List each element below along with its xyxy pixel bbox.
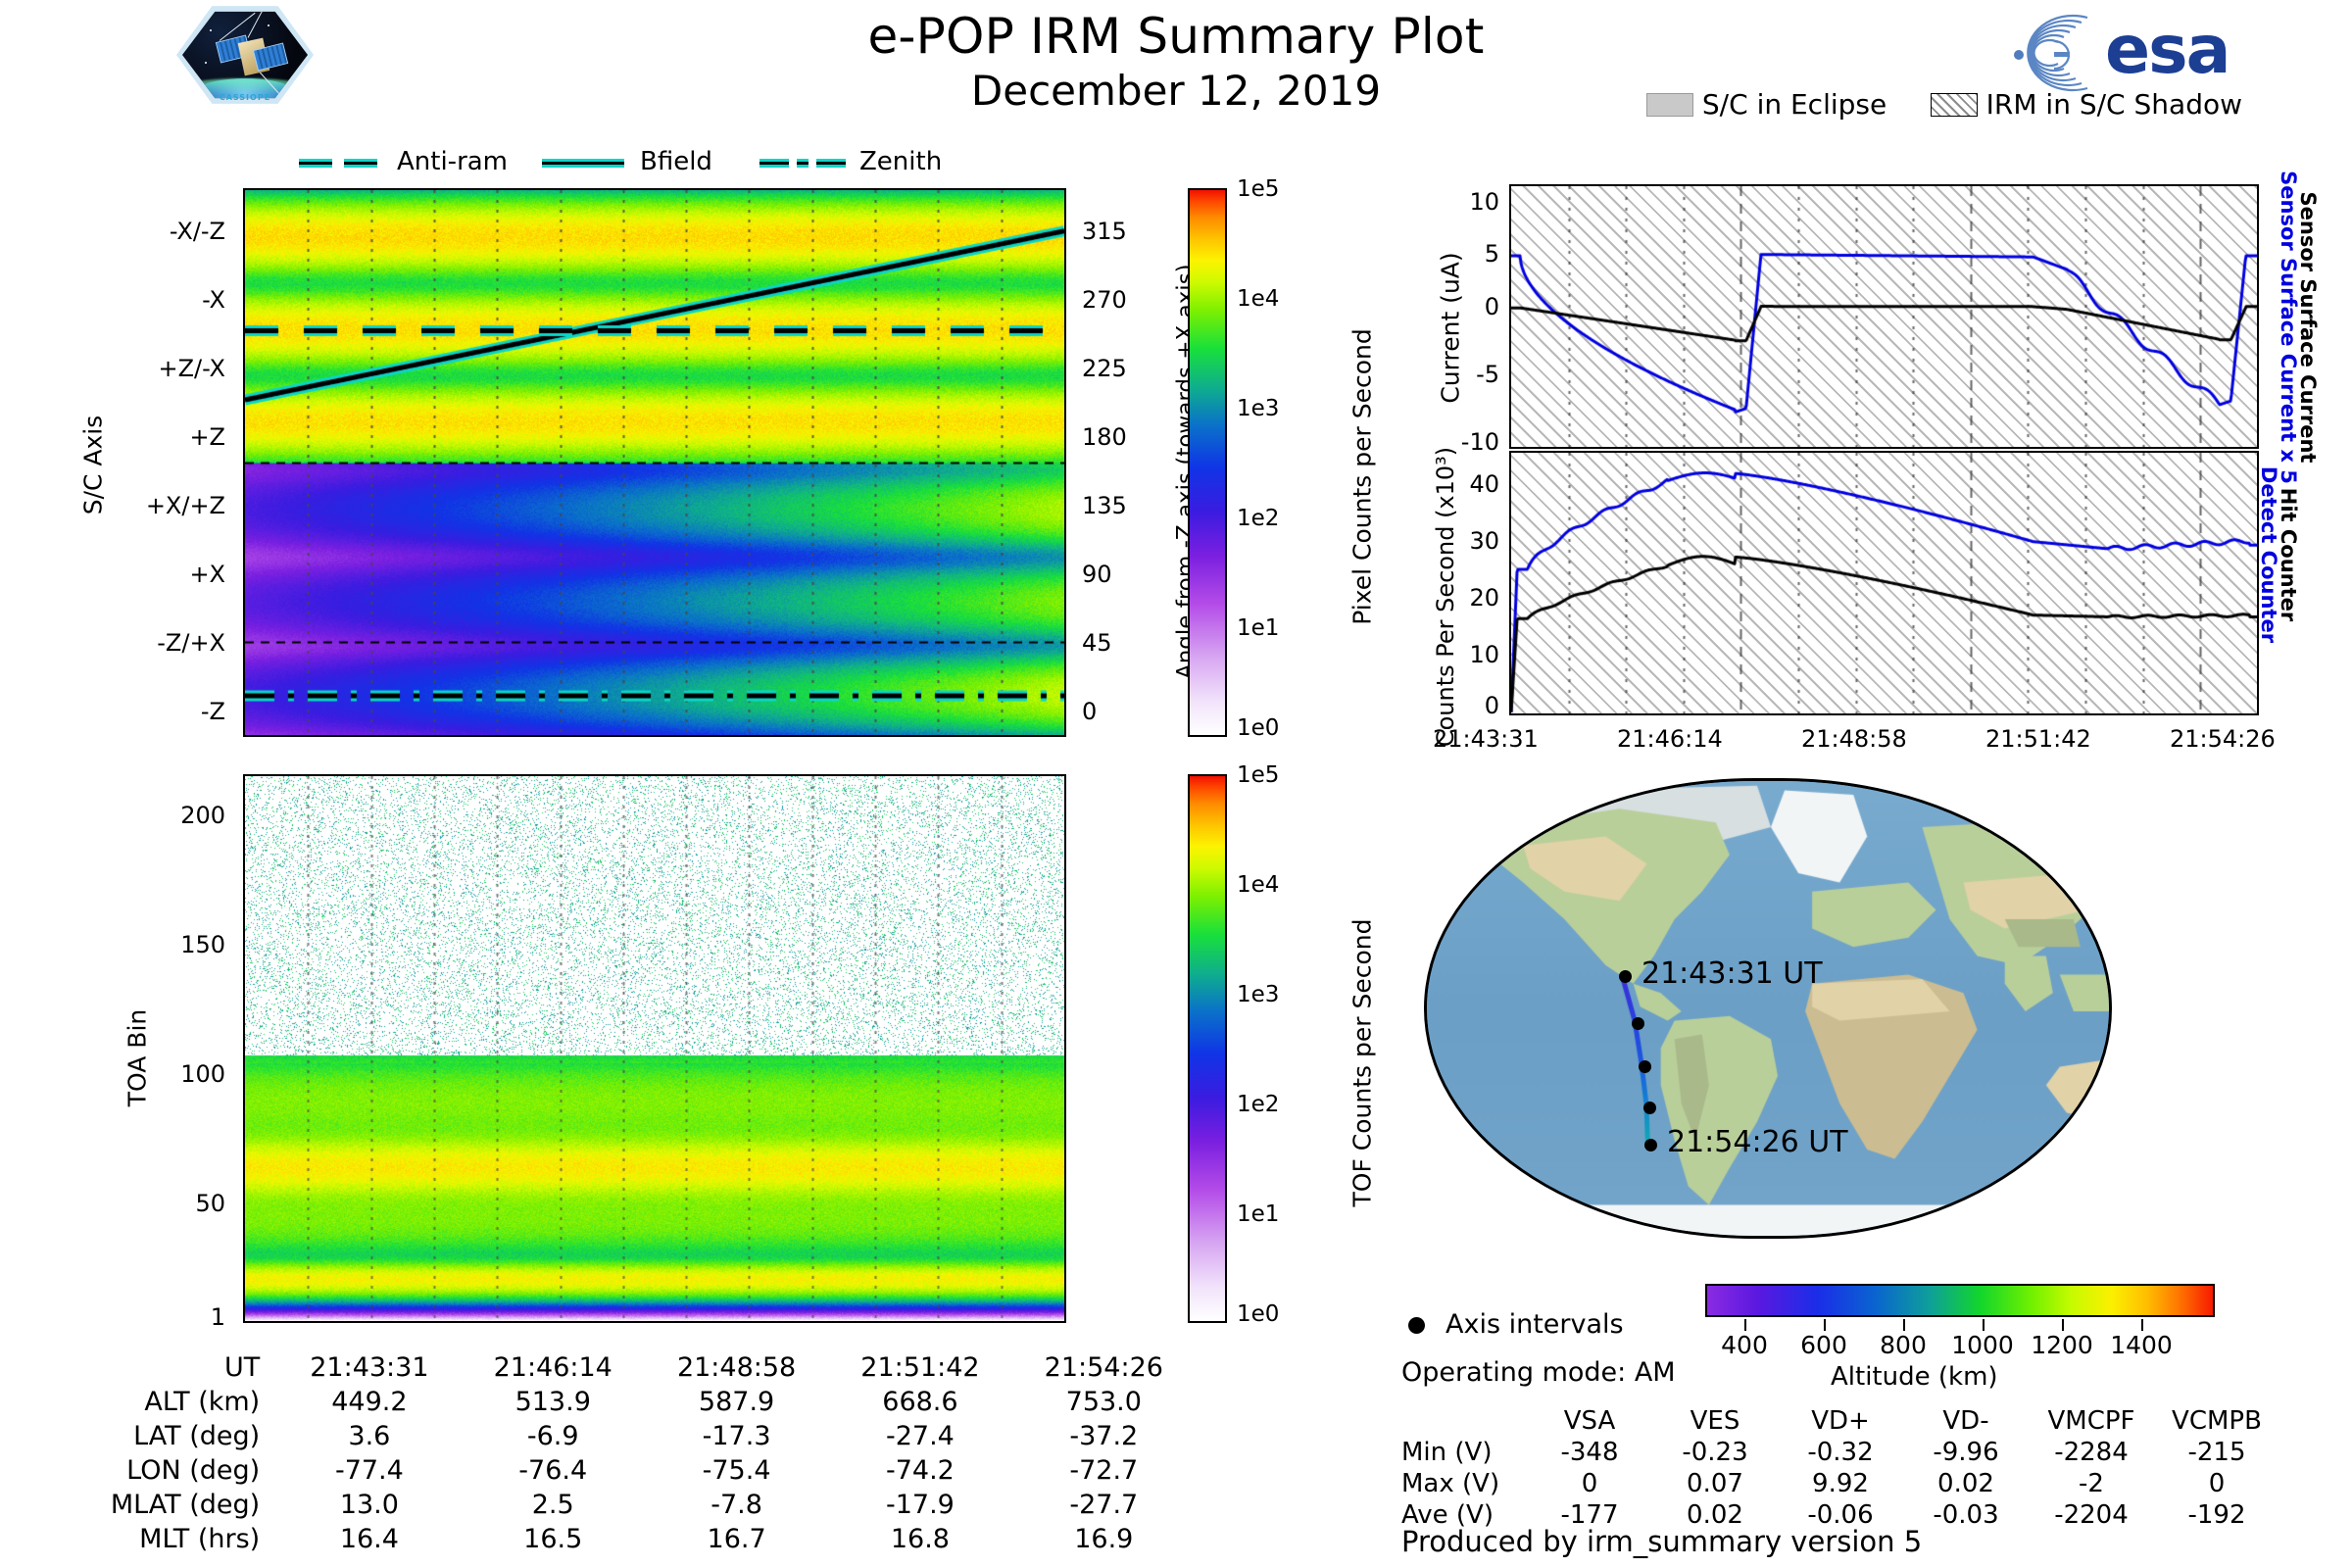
ephemeris-cell: 2.5 <box>462 1488 645 1522</box>
cbA-tick-1: 1e4 <box>1237 286 1279 312</box>
angle-overlay-legend: Anti-ram Bfield Zenith <box>250 147 936 182</box>
current-ytick-neg5: -5 <box>1426 361 1499 388</box>
cbB-tick-5: 1e0 <box>1237 1301 1279 1327</box>
pixel-counts-colorbar <box>1188 188 1227 737</box>
voltage-column-header: VES <box>1652 1405 1778 1437</box>
ephemeris-cell: 3.6 <box>277 1419 461 1453</box>
ephemeris-cell: 16.7 <box>645 1522 828 1556</box>
cbB-tick-1: 1e4 <box>1237 872 1279 898</box>
cbA-tick-4: 1e1 <box>1237 615 1279 641</box>
ephemeris-cell: -17.9 <box>828 1488 1011 1522</box>
ephemeris-cell: 13.0 <box>277 1488 461 1522</box>
ephemeris-row-label: LON (deg) <box>20 1453 277 1488</box>
sc-axis-right-tick-7: 0 <box>1082 698 1097 725</box>
toa-ytick-150: 150 <box>147 931 225 958</box>
voltage-column-header: VSA <box>1527 1405 1652 1437</box>
altitude-colorbar <box>1705 1284 2215 1317</box>
current-traces <box>1511 186 2257 447</box>
axis-interval-dot-icon <box>1408 1317 1425 1334</box>
ephemeris-cell: 21:48:58 <box>645 1350 828 1385</box>
esa-logo: esa <box>1989 8 2332 98</box>
sc-axis-right-tick-6: 45 <box>1082 629 1112 657</box>
sc-axis-ytick-0: -X/-Z <box>157 218 225 245</box>
ephemeris-cell: -76.4 <box>462 1453 645 1488</box>
ephemeris-row-label: LAT (deg) <box>20 1419 277 1453</box>
alt-tick-4: 1200 <box>2031 1331 2093 1359</box>
legend-label-shadow: IRM in S/C Shadow <box>1986 88 2242 121</box>
ephemeris-cell: -77.4 <box>277 1453 461 1488</box>
cbA-tick-5: 1e0 <box>1237 715 1279 741</box>
counts-xtick-3: 21:51:42 <box>1985 725 2091 753</box>
toa-ytick-200: 200 <box>147 802 225 829</box>
voltage-cell: -2284 <box>2029 1437 2154 1468</box>
ephemeris-row: MLAT (deg)13.02.5-7.8-17.9-27.7 <box>20 1488 1196 1522</box>
legend-label-eclipse: S/C in Eclipse <box>1702 88 1886 121</box>
toa-bin-ylabel: TOA Bin <box>123 960 152 1156</box>
voltage-column-header: VD+ <box>1778 1405 1903 1437</box>
track-dot-start <box>1619 970 1632 983</box>
toa-ytick-50: 50 <box>147 1190 225 1217</box>
ephemeris-cell: 16.4 <box>277 1522 461 1556</box>
voltage-corner <box>1401 1405 1527 1437</box>
counts-ytick-0: 0 <box>1426 692 1499 719</box>
cbB-tick-3: 1e2 <box>1237 1092 1279 1117</box>
cbA-tick-0: 1e5 <box>1237 176 1279 202</box>
voltage-cell: 0.02 <box>1903 1468 2029 1499</box>
voltage-cell: 9.92 <box>1778 1468 1903 1499</box>
current-panel[interactable] <box>1509 184 2259 449</box>
voltage-cell: -215 <box>2154 1437 2279 1468</box>
tof-counts-colorbar-label: TOF Counts per Second <box>1348 857 1377 1269</box>
voltage-cell: -0.23 <box>1652 1437 1778 1468</box>
voltage-cell: 0 <box>2154 1468 2279 1499</box>
ephemeris-cell: -6.9 <box>462 1419 645 1453</box>
counts-traces <box>1511 453 2257 713</box>
track-dot-end <box>1644 1139 1657 1151</box>
ephemeris-cell: -7.8 <box>645 1488 828 1522</box>
ephemeris-row: MLT (hrs)16.416.516.716.816.9 <box>20 1522 1196 1556</box>
sc-axis-right-tick-2: 225 <box>1082 355 1127 382</box>
ephemeris-row-label: MLT (hrs) <box>20 1522 277 1556</box>
ephemeris-cell: -37.2 <box>1012 1419 1196 1453</box>
eclipse-swatch-icon <box>1646 93 1693 117</box>
voltage-cell: -192 <box>2154 1499 2279 1531</box>
ephemeris-cell: -75.4 <box>645 1453 828 1488</box>
ephemeris-cell: 513.9 <box>462 1385 645 1419</box>
counts-ytick-20: 20 <box>1426 584 1499 612</box>
counts-ytick-40: 40 <box>1426 470 1499 498</box>
sc-axis-ytick-6: -Z/+X <box>133 629 225 657</box>
ephemeris-cell: 668.6 <box>828 1385 1011 1419</box>
toa-ytick-1: 1 <box>147 1303 225 1331</box>
ephemeris-cell: 21:46:14 <box>462 1350 645 1385</box>
ephemeris-cell: -27.4 <box>828 1419 1011 1453</box>
sc-axis-right-tick-1: 270 <box>1082 286 1127 314</box>
shadow-hatch-swatch-icon <box>1931 93 1978 117</box>
track-end-label: 21:54:26 UT <box>1667 1125 1848 1159</box>
sc-axis-spectrogram-panel[interactable] <box>243 188 1066 737</box>
cassiope-mission-patch-icon: CASSIOPE <box>176 4 314 106</box>
legend-label-bfield: Bfield <box>640 147 712 176</box>
ephemeris-row: LON (deg)-77.4-76.4-75.4-74.2-72.7 <box>20 1453 1196 1488</box>
world-map-canvas <box>1427 781 2112 1239</box>
voltage-row-label: Max (V) <box>1401 1468 1527 1499</box>
sc-axis-ytick-4: +X/+Z <box>125 492 225 519</box>
alt-tick-2: 800 <box>1880 1331 1927 1359</box>
voltage-cell: -0.32 <box>1778 1437 1903 1468</box>
cbB-tick-2: 1e3 <box>1237 982 1279 1007</box>
ephemeris-cell: -27.7 <box>1012 1488 1196 1522</box>
voltage-column-header: VMCPF <box>2029 1405 2154 1437</box>
ephemeris-cell: 753.0 <box>1012 1385 1196 1419</box>
ephemeris-row-label: ALT (km) <box>20 1385 277 1419</box>
legend-label-anti-ram: Anti-ram <box>397 147 508 176</box>
toa-bin-spectrogram-panel[interactable] <box>243 774 1066 1323</box>
ephemeris-cell: 21:54:26 <box>1012 1350 1196 1385</box>
track-dot-2 <box>1639 1060 1651 1073</box>
pixel-counts-colorbar-label: Pixel Counts per Second <box>1348 271 1377 683</box>
current-ylabel: Current (uA) <box>1437 201 1465 456</box>
counts-panel[interactable] <box>1509 451 2259 715</box>
current-ytick-0: 0 <box>1426 293 1499 320</box>
patch-wordmark: CASSIOPE <box>176 93 314 102</box>
ephemeris-row: UT21:43:3121:46:1421:48:5821:51:4221:54:… <box>20 1350 1196 1385</box>
esa-globe-icon <box>1993 12 2099 94</box>
sc-axis-right-tick-4: 135 <box>1082 492 1127 519</box>
sc-axis-ytick-1: -X <box>157 286 225 314</box>
cbA-tick-3: 1e2 <box>1237 506 1279 531</box>
voltage-cell: -348 <box>1527 1437 1652 1468</box>
voltage-cell: 0.07 <box>1652 1468 1778 1499</box>
ephemeris-cell: 21:43:31 <box>277 1350 461 1385</box>
counts-xtick-1: 21:46:14 <box>1617 725 1723 753</box>
track-start-label: 21:43:31 UT <box>1641 956 1823 991</box>
ephemeris-cell: -72.7 <box>1012 1453 1196 1488</box>
sc-axis-right-tick-3: 180 <box>1082 423 1127 451</box>
counts-ytick-30: 30 <box>1426 527 1499 555</box>
altitude-colorbar-title: Altitude (km) <box>1831 1362 1998 1392</box>
voltage-column-header: VD- <box>1903 1405 2029 1437</box>
sc-axis-heatmap <box>245 190 1064 735</box>
track-dot-3 <box>1643 1102 1656 1114</box>
counts-xtick-2: 21:48:58 <box>1801 725 1907 753</box>
operating-mode-label: Operating mode: AM <box>1401 1357 1676 1388</box>
voltage-statistics-table: VSAVESVD+VD-VMCPFVCMPBMin (V)-348-0.23-0… <box>1401 1405 2279 1531</box>
alt-tick-1: 600 <box>1800 1331 1847 1359</box>
map-oval <box>1424 778 2112 1239</box>
alt-tick-5: 1400 <box>2110 1331 2173 1359</box>
sc-axis-ylabel: S/C Axis <box>79 367 108 563</box>
voltage-cell: -2204 <box>2029 1499 2154 1531</box>
alt-tick-0: 400 <box>1721 1331 1768 1359</box>
cbB-tick-0: 1e5 <box>1237 762 1279 788</box>
counts-xtick-0: 21:43:31 <box>1433 725 1539 753</box>
voltage-row: Min (V)-348-0.23-0.32-9.96-2284-215 <box>1401 1437 2279 1468</box>
ephemeris-row: ALT (km)449.2513.9587.9668.6753.0 <box>20 1385 1196 1419</box>
ephemeris-cell: 449.2 <box>277 1385 461 1419</box>
ephemeris-cell: -17.3 <box>645 1419 828 1453</box>
esa-wordmark: esa <box>2105 16 2229 86</box>
cbB-tick-4: 1e1 <box>1237 1201 1279 1227</box>
legend-label-zenith: Zenith <box>859 147 942 176</box>
ephemeris-cell: -74.2 <box>828 1453 1011 1488</box>
ephemeris-cell: 587.9 <box>645 1385 828 1419</box>
sc-axis-right-tick-0: 315 <box>1082 218 1127 245</box>
voltage-cell: -9.96 <box>1903 1437 2029 1468</box>
sc-axis-ytick-5: +X <box>157 561 225 588</box>
sc-axis-ytick-3: +Z <box>157 423 225 451</box>
voltage-cell: 0 <box>1527 1468 1652 1499</box>
ephemeris-row-label: MLAT (deg) <box>20 1488 277 1522</box>
counts-right-label-black: Hit Counter <box>2277 427 2300 682</box>
ephemeris-cell: 16.9 <box>1012 1522 1196 1556</box>
track-dot-1 <box>1632 1017 1644 1030</box>
cbA-tick-2: 1e3 <box>1237 396 1279 421</box>
current-ytick-10: 10 <box>1426 188 1499 216</box>
voltage-header-row: VSAVESVD+VD-VMCPFVCMPB <box>1401 1405 2279 1437</box>
voltage-row: Max (V)00.079.920.02-20 <box>1401 1468 2279 1499</box>
toa-bin-heatmap <box>245 776 1064 1321</box>
ephemeris-cell: 21:51:42 <box>828 1350 1011 1385</box>
voltage-row-label: Min (V) <box>1401 1437 1527 1468</box>
tof-counts-colorbar <box>1188 774 1227 1323</box>
sc-axis-ytick-2: +Z/-X <box>137 355 225 382</box>
ground-track-map[interactable]: 21:43:31 UT 21:54:26 UT <box>1424 778 2112 1239</box>
ephemeris-row: LAT (deg)3.6-6.9-17.3-27.4-37.2 <box>20 1419 1196 1453</box>
alt-tick-3: 1000 <box>1951 1331 2014 1359</box>
axis-intervals-label: Axis intervals <box>1445 1309 1624 1340</box>
ephemeris-row-label: UT <box>20 1350 277 1385</box>
voltage-cell: -0.03 <box>1903 1499 2029 1531</box>
voltage-cell: -2 <box>2029 1468 2154 1499</box>
sc-axis-right-tick-5: 90 <box>1082 561 1112 588</box>
shading-legend: S/C in Eclipse IRM in S/C Shadow <box>1646 88 2242 121</box>
current-ytick-5: 5 <box>1426 240 1499 268</box>
footer-credit: Produced by irm_summary version 5 <box>1401 1525 1922 1558</box>
voltage-column-header: VCMPB <box>2154 1405 2279 1437</box>
counts-ytick-10: 10 <box>1426 641 1499 668</box>
ephemeris-cell: 16.5 <box>462 1522 645 1556</box>
toa-ytick-100: 100 <box>147 1060 225 1088</box>
sc-axis-ytick-7: -Z <box>157 698 225 725</box>
ephemeris-cell: 16.8 <box>828 1522 1011 1556</box>
counts-xtick-4: 21:54:26 <box>2170 725 2276 753</box>
ephemeris-table: UT21:43:3121:46:1421:48:5821:51:4221:54:… <box>20 1350 1196 1556</box>
